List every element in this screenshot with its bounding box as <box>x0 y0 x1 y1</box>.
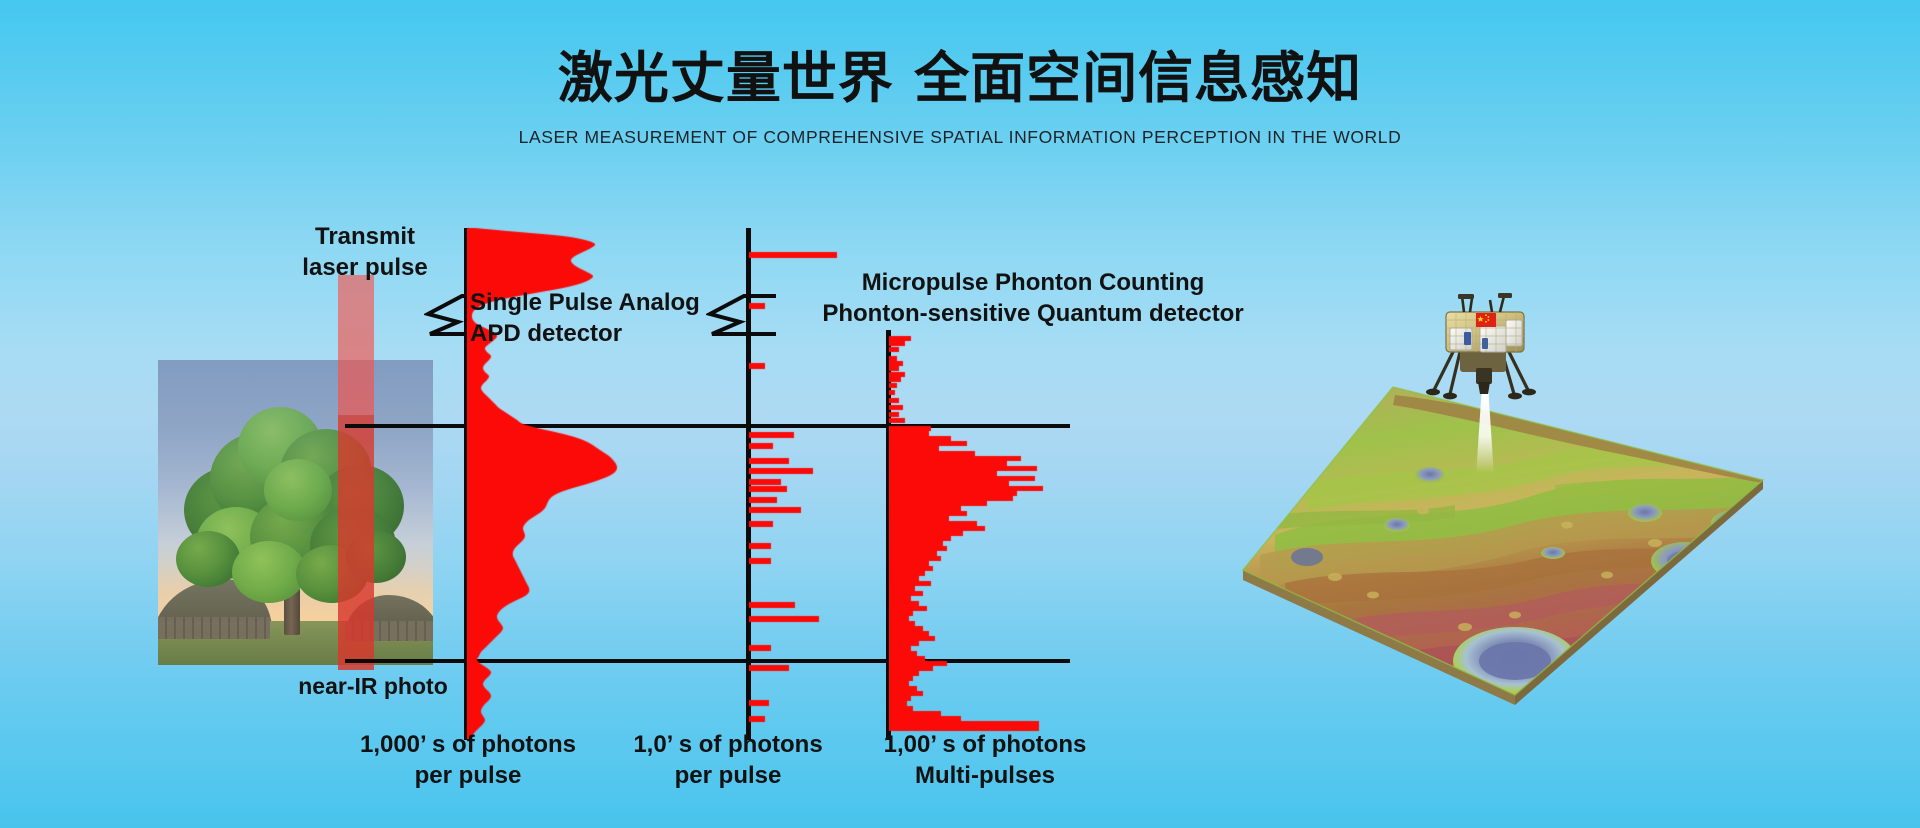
label-transmit-laser-pulse: Transmit laser pulse <box>270 222 460 283</box>
lunar-lander-scene <box>1215 290 1815 720</box>
label-near-ir-photo: near-IR photo <box>258 672 488 701</box>
label-photons-per-pulse-single: 1,0’ s of photons per pulse <box>608 730 848 791</box>
near-ir-photo-image <box>158 360 433 665</box>
lidar-diagram: Transmit laser pulse Single Pulse Analog… <box>0 0 1920 828</box>
tree-crown <box>176 531 240 587</box>
tree-shape <box>176 403 414 635</box>
label-apd-detector: Single Pulse Analog APD detector <box>470 288 720 349</box>
label-photons-multi-pulses: 1,00’ s of photons Multi-pulses <box>860 730 1110 791</box>
lunar-lander-icon <box>1420 290 1550 420</box>
label-micropulse-detector: Micropulse Phonton Counting Phonton-sens… <box>818 268 1248 329</box>
tree-crown <box>264 459 332 521</box>
label-photons-per-pulse-analog: 1,000’ s of photons per pulse <box>338 730 598 791</box>
tree-crown <box>232 541 306 603</box>
china-flag-icon <box>1476 313 1496 327</box>
photo-canvas <box>158 360 433 665</box>
laser-beam-lower-icon <box>338 415 374 670</box>
